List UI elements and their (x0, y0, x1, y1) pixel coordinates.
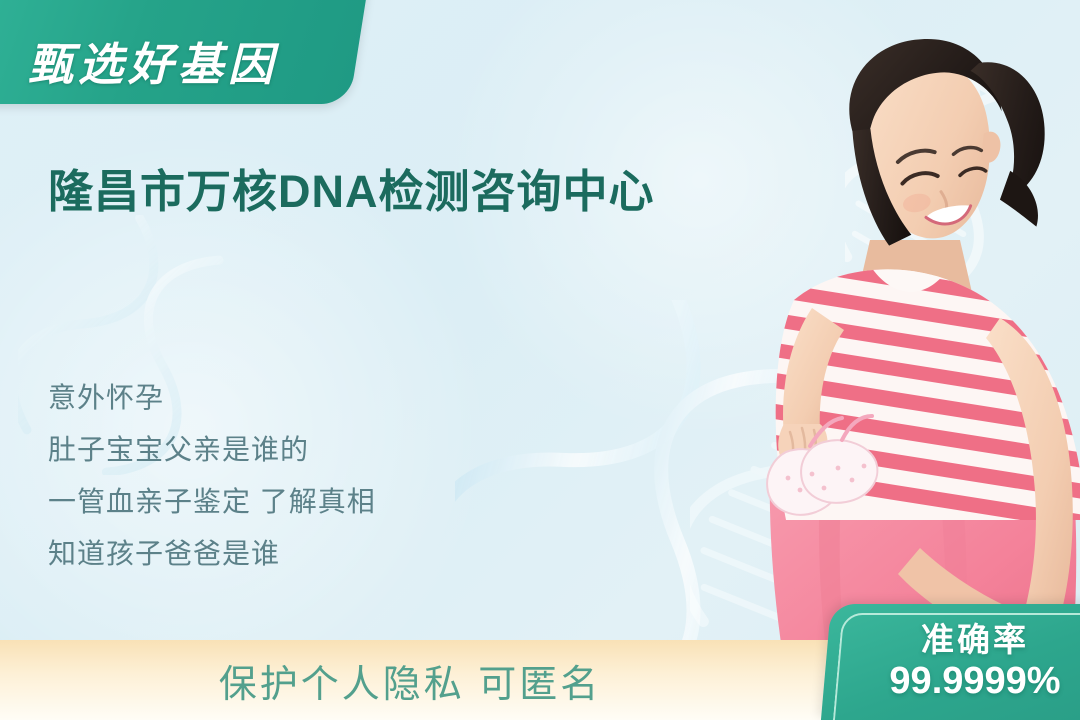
page-title: 隆昌市万核DNA检测咨询中心 (48, 155, 655, 220)
marketing-copy: 意外怀孕 肚子宝宝父亲是谁的 一管血亲子鉴定 了解真相 知道孩子爸爸是谁 (48, 372, 376, 580)
accuracy-badge-label: 准确率 (913, 621, 1029, 659)
copy-line-1: 意外怀孕 (48, 372, 376, 424)
copy-line-2: 肚子宝宝父亲是谁的 (48, 424, 376, 476)
promo-banner: 甄选好基因 隆昌市万核DNA检测咨询中心 意外怀孕 肚子宝宝父亲是谁的 一管血亲… (0, 0, 1080, 720)
accuracy-badge-value: 99.9999% (881, 659, 1060, 703)
copy-line-3: 一管血亲子鉴定 了解真相 (48, 476, 376, 528)
copy-line-4: 知道孩子爸爸是谁 (48, 528, 376, 580)
brand-logo-text: 甄选好基因 (28, 20, 348, 100)
accuracy-badge-content: 准确率 99.9999% (826, 604, 1080, 720)
privacy-strip-text: 保护个人隐私 可匿名 (0, 640, 820, 720)
